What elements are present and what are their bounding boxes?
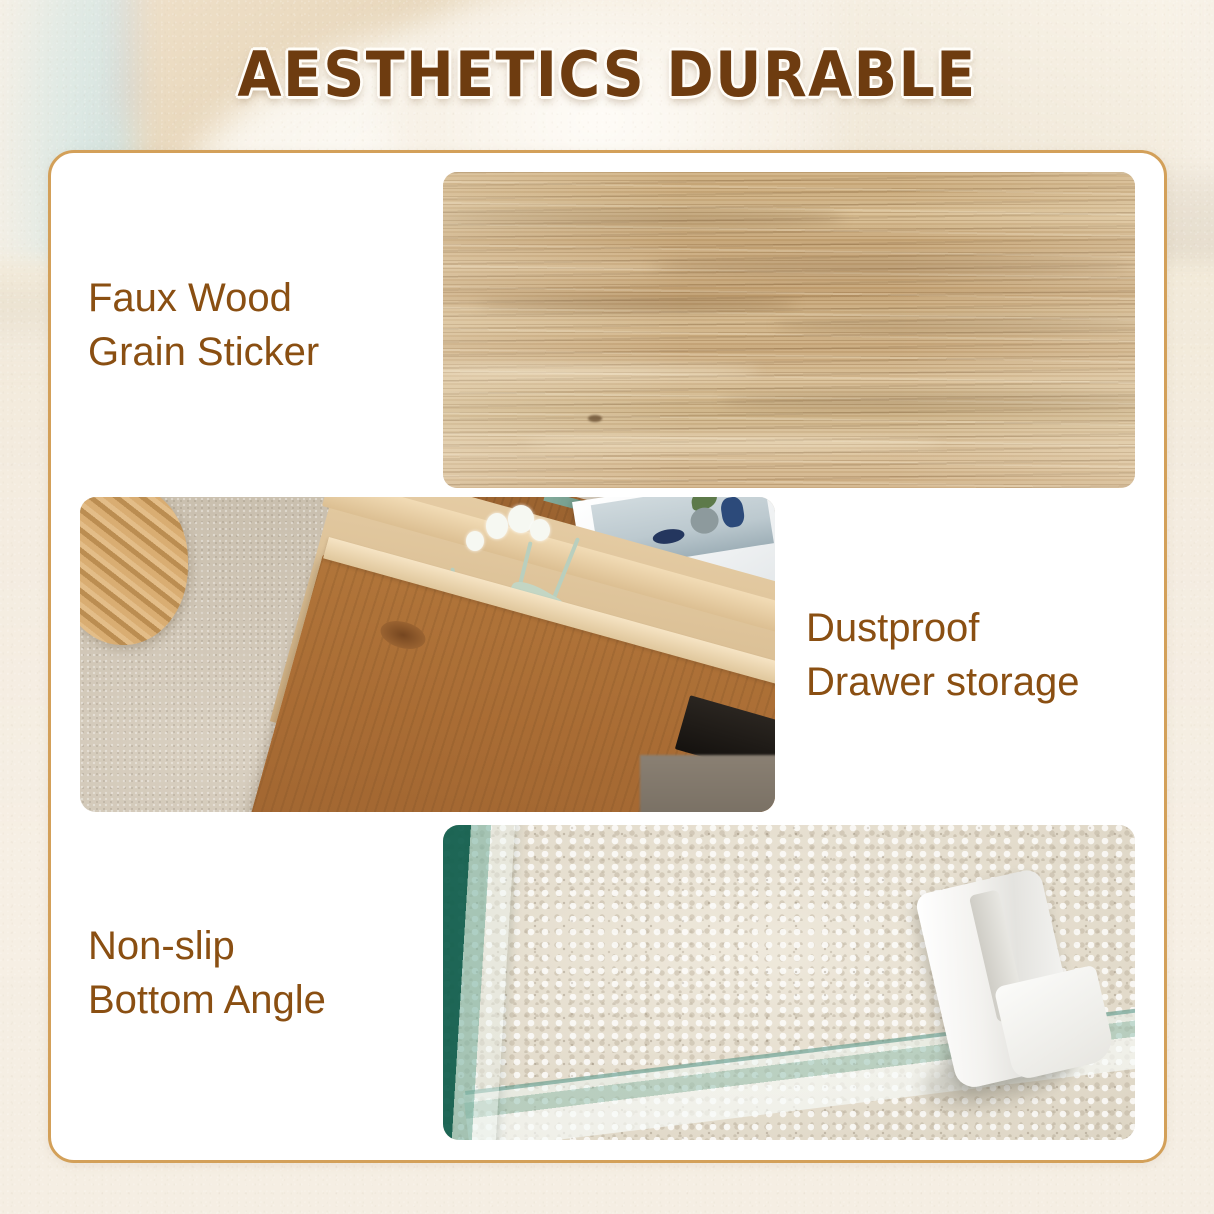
feature-image-dustproof-drawer-storage — [80, 497, 775, 812]
magazine-object-blue — [652, 527, 686, 546]
feature-caption-faux-wood-grain-sticker: Faux Wood Grain Sticker — [88, 272, 319, 379]
flower-blossom — [530, 519, 550, 541]
infographic-canvas: AESTHETICS DURABLE — [0, 0, 1214, 1214]
feature-caption-dustproof-drawer-storage: Dustproof Drawer storage — [806, 602, 1079, 709]
feature-image-non-slip-bottom-angle — [443, 825, 1135, 1140]
drawer-photo-shadowed-carpet — [640, 755, 775, 812]
feature-image-faux-wood-grain-sticker — [443, 172, 1135, 488]
wood-sheen-overlay — [443, 172, 1135, 488]
flower-blossom — [466, 531, 484, 551]
feature-caption-non-slip-bottom-angle: Non-slip Bottom Angle — [88, 920, 326, 1027]
page-title: AESTHETICS DURABLE — [49, 38, 1166, 111]
flower-blossom — [486, 513, 508, 539]
magazine-object-dark — [719, 497, 745, 529]
